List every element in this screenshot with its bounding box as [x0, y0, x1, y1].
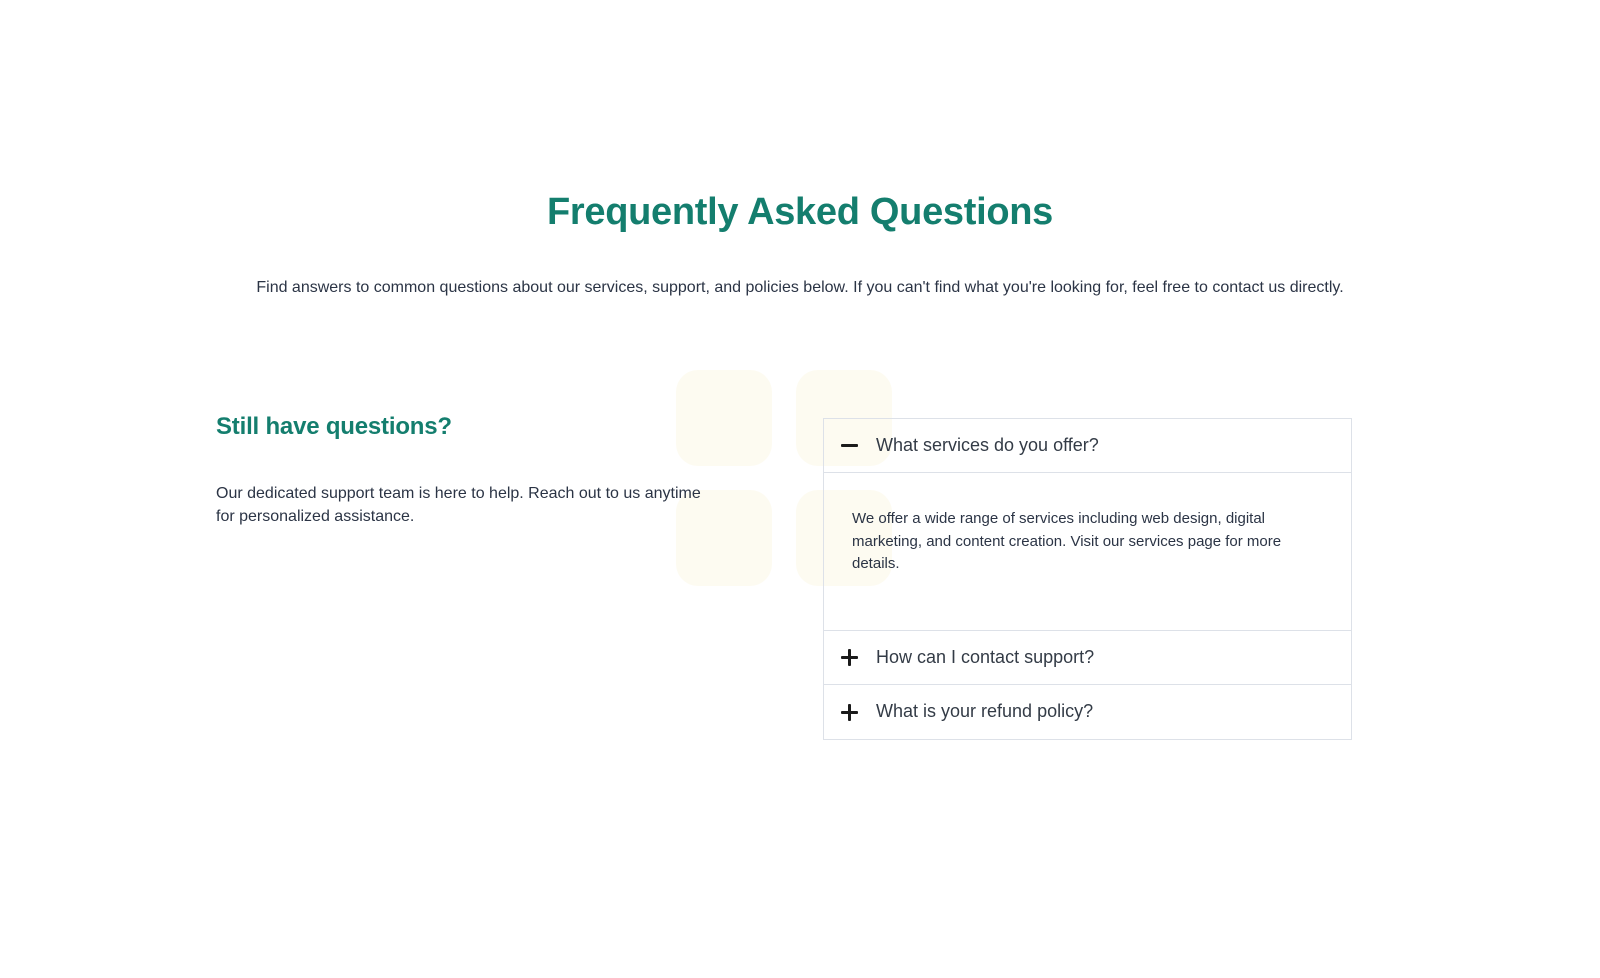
accordion-question: What services do you offer? [876, 434, 1099, 457]
accordion-answer: We offer a wide range of services includ… [852, 508, 1291, 575]
accordion-panel: We offer a wide range of services includ… [824, 472, 1351, 630]
page-header: Frequently Asked Questions Find answers … [0, 190, 1600, 236]
accordion-header-how-can-i-contact-support[interactable]: How can I contact support? [824, 631, 1351, 684]
accordion-header-what-services-do-you-offer[interactable]: What services do you offer? [824, 419, 1351, 472]
support-column: Still have questions? Our dedicated supp… [216, 412, 716, 442]
accordion-header-what-is-your-refund-policy[interactable]: What is your refund policy? [824, 685, 1351, 738]
page-subtitle: Find answers to common questions about o… [0, 276, 1600, 300]
plus-icon[interactable] [841, 649, 858, 666]
accordion-item: How can I contact support? [824, 630, 1352, 684]
faq-accordion: What services do you offer? We offer a w… [823, 418, 1352, 740]
accordion-question: How can I contact support? [876, 646, 1094, 669]
accordion-item: What is your refund policy? [824, 684, 1352, 739]
minus-icon[interactable] [841, 437, 858, 454]
faq-content: Still have questions? Our dedicated supp… [0, 360, 1600, 760]
page-title: Frequently Asked Questions [0, 190, 1600, 236]
plus-icon[interactable] [841, 704, 858, 721]
support-description: Our dedicated support team is here to he… [216, 482, 701, 528]
support-heading: Still have questions? [216, 412, 716, 442]
accordion-item: What services do you offer? We offer a w… [824, 418, 1352, 630]
accordion-question: What is your refund policy? [876, 700, 1093, 723]
